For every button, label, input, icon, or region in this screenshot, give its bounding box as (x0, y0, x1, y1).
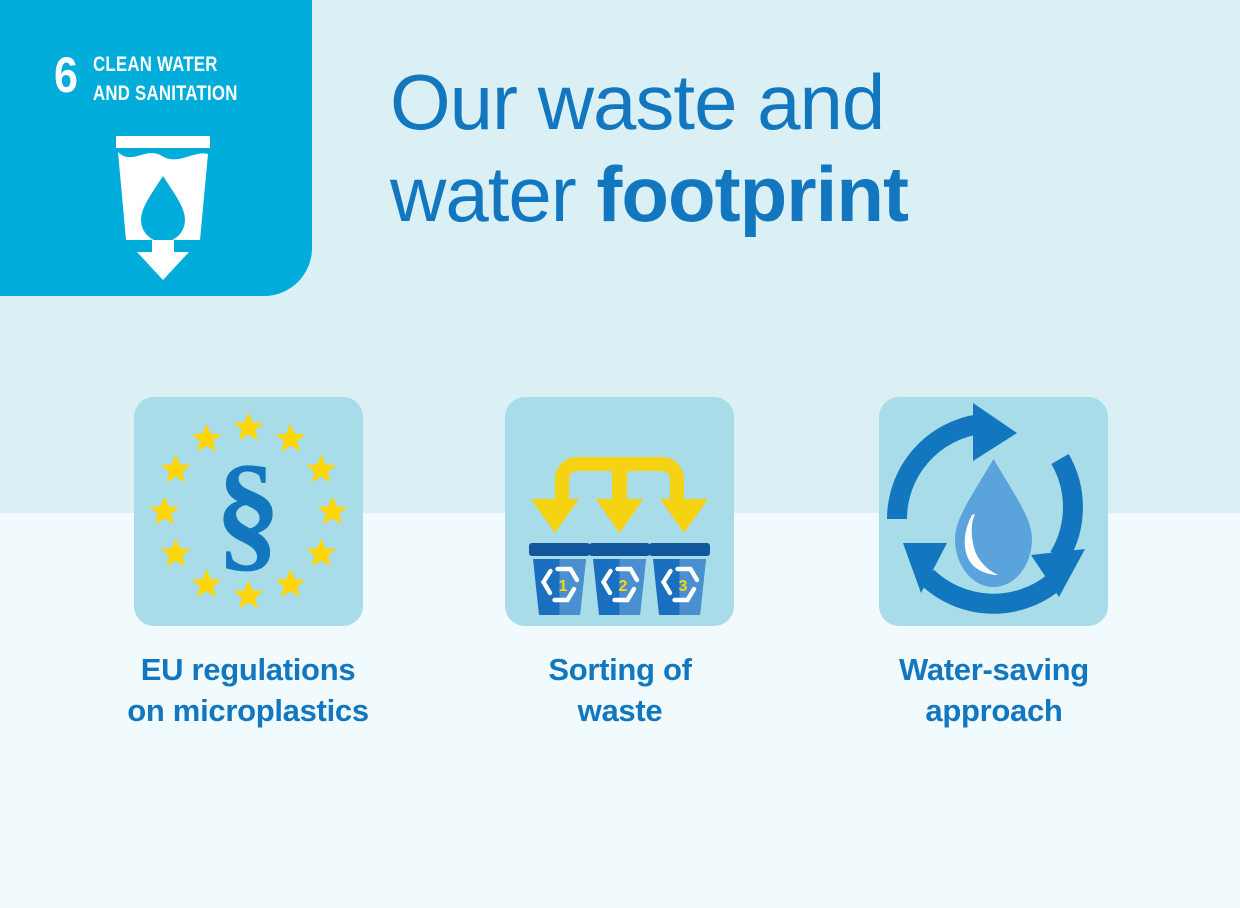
sdg-goal-title-line-1: CLEAN WATER (93, 50, 238, 79)
paragraph-symbol-glyph: § (215, 437, 281, 584)
sdg-goal-title-line-2: AND SANITATION (93, 79, 238, 108)
bin-number-label: 2 (619, 578, 628, 595)
sdg-badge-header: 6 CLEAN WATER AND SANITATION (54, 50, 274, 108)
page-title-line-2-bold: footprint (596, 150, 908, 238)
waste-bin: 1 (529, 543, 590, 615)
water-glass-drop-arrow-icon (108, 132, 218, 280)
feature-card-sorting-of-waste[interactable]: 1 2 (505, 397, 734, 731)
arrowhead-top (973, 403, 1017, 461)
eu-stars-paragraph-icon: § (134, 397, 363, 626)
waste-sorting-bins-icon: 1 2 (505, 397, 734, 626)
feature-card-caption: EU regulations on microplastics (98, 649, 398, 731)
feature-card-caption: Sorting of waste (490, 649, 750, 731)
infographic-slide: 6 CLEAN WATER AND SANITATION Our waste a… (0, 0, 1240, 908)
water-recycle-droplet-icon (879, 397, 1108, 626)
feature-card-caption: Water-saving approach (859, 649, 1129, 731)
feature-card-row: § EU regulations on microplastics (0, 397, 1240, 757)
page-title-line-2: water footprint (390, 148, 1090, 240)
page-title: Our waste and water footprint (390, 56, 1090, 240)
sdg-goal-number: 6 (54, 50, 77, 100)
page-title-line-2-regular: water (390, 150, 596, 238)
bin-number-label: 1 (559, 578, 568, 595)
page-title-line-1: Our waste and (390, 56, 1090, 148)
waste-bin: 3 (649, 543, 710, 615)
feature-card-eu-regulations[interactable]: § EU regulations on microplastics (134, 397, 363, 731)
waste-bin: 2 (589, 543, 650, 615)
feature-card-water-saving[interactable]: Water-saving approach (879, 397, 1108, 731)
water-droplet-shape (955, 459, 1032, 587)
sdg-goal-6-badge: 6 CLEAN WATER AND SANITATION (0, 0, 312, 296)
bin-number-label: 3 (679, 578, 688, 595)
sorting-arrows-icon (531, 457, 708, 533)
sdg-goal-title: CLEAN WATER AND SANITATION (93, 50, 238, 108)
